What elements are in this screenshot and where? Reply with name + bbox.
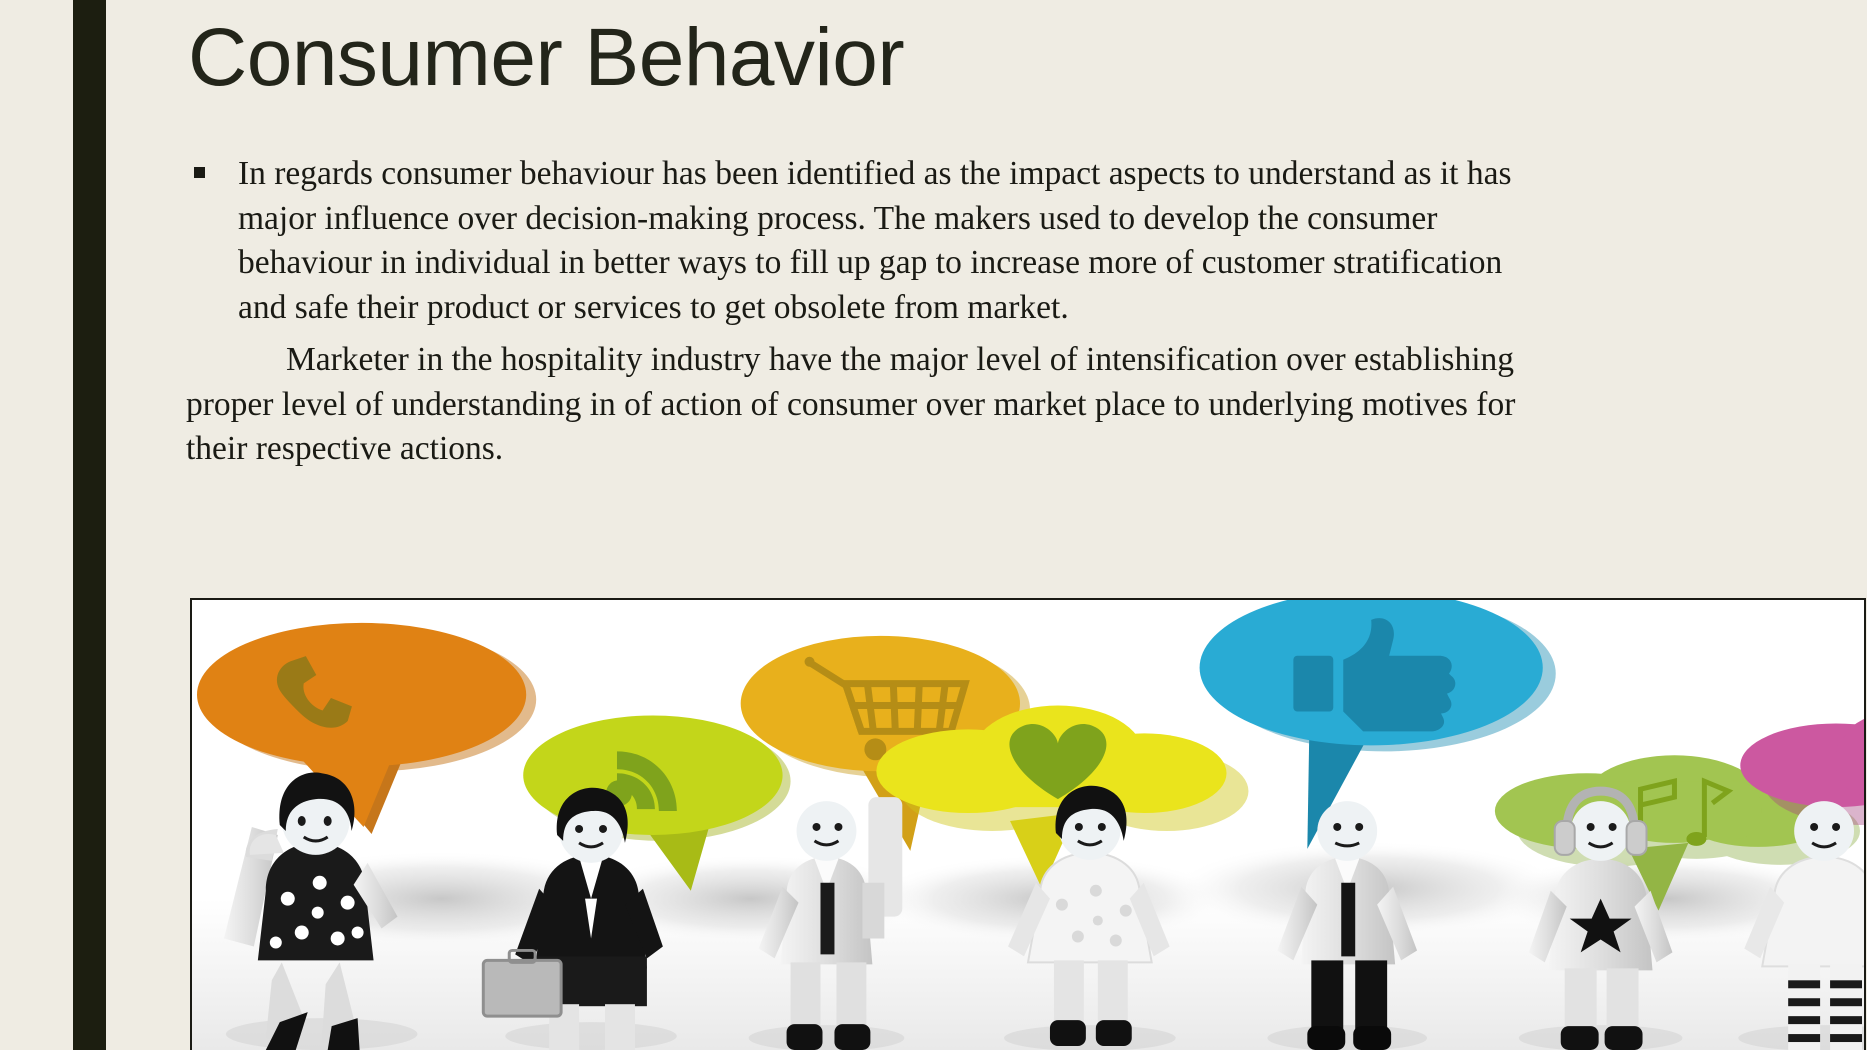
page-title: Consumer Behavior bbox=[188, 14, 1388, 103]
consumer-speech-bubble-illustration bbox=[192, 600, 1864, 1050]
body-content: In regards consumer behaviour has been i… bbox=[186, 152, 1546, 472]
square-bullet-icon bbox=[194, 167, 205, 178]
slide-canvas: Consumer Behavior In regards consumer be… bbox=[0, 0, 1867, 1050]
left-accent-bar bbox=[73, 0, 106, 1050]
slide-image bbox=[190, 598, 1866, 1050]
plain-paragraph-text: Marketer in the hospitality industry hav… bbox=[186, 338, 1546, 472]
bullet-paragraph: In regards consumer behaviour has been i… bbox=[186, 152, 1546, 330]
bullet-paragraph-text: In regards consumer behaviour has been i… bbox=[238, 152, 1546, 330]
